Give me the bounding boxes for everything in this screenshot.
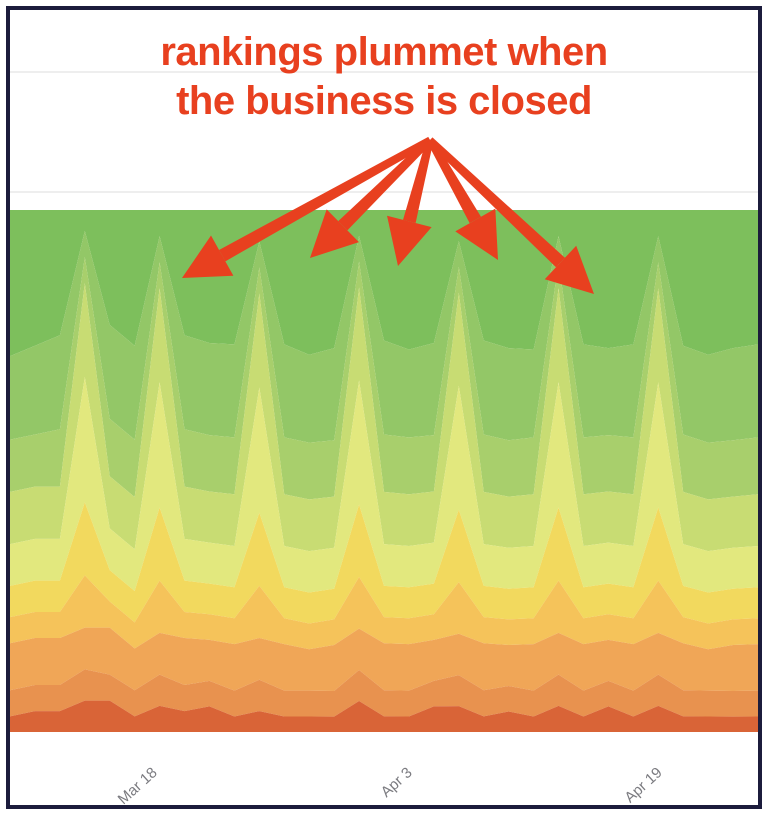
stacked-area-chart [10,10,758,805]
area-series-group [10,210,758,732]
gridlines [10,72,758,192]
chart-frame: rankings plummet when the business is cl… [6,6,762,809]
chart-svg [10,10,758,805]
